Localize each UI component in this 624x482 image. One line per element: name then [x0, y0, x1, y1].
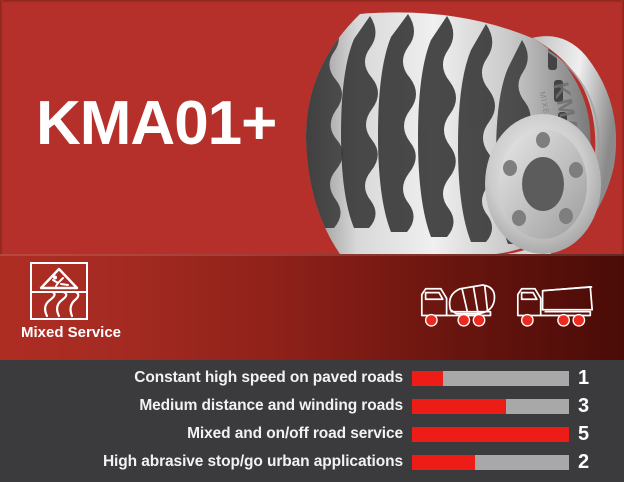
winding-road-icon — [45, 292, 78, 316]
table-row: High abrasive stop/go urban applications… — [0, 448, 624, 476]
rating-bar-fill — [412, 371, 443, 386]
table-row: Constant high speed on paved roads 1 — [0, 364, 624, 392]
product-poster: KMA01+ — [0, 0, 624, 482]
mixed-service-label: Mixed Service — [12, 324, 130, 341]
product-title: KMA01+ — [36, 93, 276, 155]
hero-banner: KMA01+ — [0, 0, 624, 254]
rating-bar-fill — [412, 399, 506, 414]
rating-label: Constant high speed on paved roads — [0, 369, 412, 387]
table-row: Medium distance and winding roads 3 — [0, 392, 624, 420]
vehicle-icons — [418, 272, 596, 334]
service-band-top-line — [0, 254, 624, 256]
hero-left-edge — [0, 0, 3, 254]
hero-top-edge — [0, 0, 624, 3]
rating-label: Mixed and on/off road service — [0, 425, 412, 443]
rating-bar-track — [412, 371, 569, 386]
service-band: Mixed Service — [0, 254, 624, 360]
rating-bar-track — [412, 399, 569, 414]
rating-value: 1 — [569, 367, 615, 390]
rating-value: 3 — [569, 395, 615, 418]
rating-label: Medium distance and winding roads — [0, 397, 412, 415]
table-row: Mixed and on/off road service 5 — [0, 420, 624, 448]
rating-bar-track — [412, 427, 569, 442]
rating-value: 2 — [569, 451, 615, 474]
mixed-service-icon-box — [30, 262, 88, 320]
roadwork-warning-triangle-icon — [41, 269, 77, 288]
ratings-panel: Constant high speed on paved roads 1 Med… — [0, 360, 624, 482]
dump-truck-icon — [514, 276, 596, 334]
hub-center — [522, 157, 564, 211]
rating-bar-fill — [412, 455, 475, 470]
mixed-service-icon-divider — [32, 291, 86, 293]
cement-mixer-truck-icon — [418, 276, 500, 334]
tire-product-image: KMA 01 MIXED SERVICE — [300, 8, 624, 254]
mixed-service-badge: Mixed Service — [12, 260, 130, 354]
rating-bar-fill — [412, 427, 569, 442]
rating-label: High abrasive stop/go urban applications — [0, 453, 412, 471]
tire-illustration: KMA 01 MIXED SERVICE — [300, 8, 624, 254]
rating-bar-track — [412, 455, 569, 470]
rating-value: 5 — [569, 423, 615, 446]
